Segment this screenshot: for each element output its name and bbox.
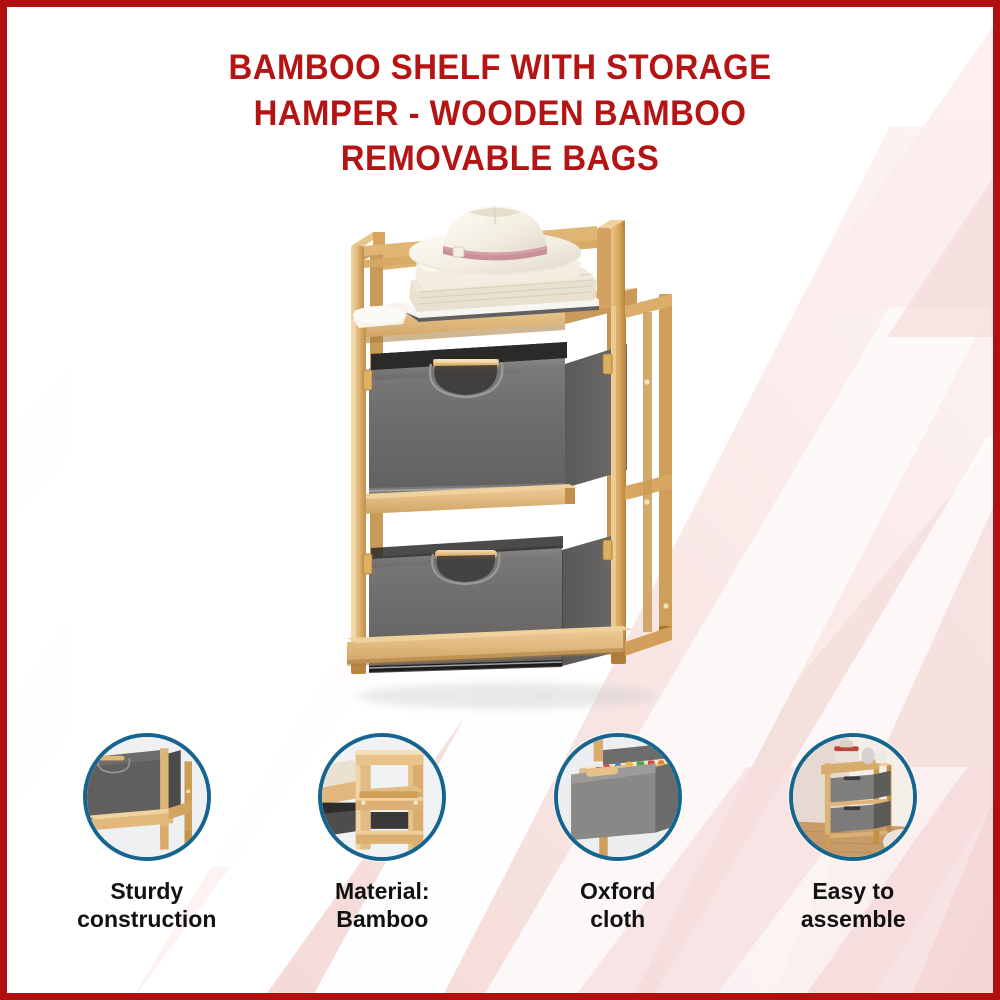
bamboo-shelf-illustration [307,202,707,722]
feature-thumb-material-bamboo [318,733,446,861]
feature-thumb-oxford-cloth [554,733,682,861]
feature-callouts: Sturdy construction [29,733,971,963]
feature-thumb-sturdy-construction [83,733,211,861]
title-line-3: REMOVABLE BAGS [37,136,964,182]
easy-to-assemble-thumb-svg [793,737,913,857]
feature-thumb-easy-to-assemble [789,733,917,861]
feature-label-oxford-cloth: Oxford cloth [580,877,655,933]
product-poster: BAMBOO SHELF WITH STORAGE HAMPER - WOODE… [0,0,1000,1000]
page-title: BAMBOO SHELF WITH STORAGE HAMPER - WOODE… [7,45,993,182]
feature-label-sturdy-construction: Sturdy construction [77,877,216,933]
feature-label-material-bamboo: Material: Bamboo [335,877,430,933]
hero-product-image [307,202,707,722]
feature-sturdy-construction[interactable]: Sturdy construction [44,733,249,933]
feature-oxford-cloth[interactable]: Oxford cloth [515,733,720,933]
feature-material-bamboo[interactable]: Material: Bamboo [280,733,485,933]
oxford-cloth-thumb-svg [558,737,678,857]
title-line-1: BAMBOO SHELF WITH STORAGE [37,45,964,91]
sturdy-construction-thumb-svg [87,737,207,857]
material-bamboo-thumb-svg [322,737,442,857]
feature-easy-to-assemble[interactable]: Easy to assemble [751,733,956,933]
feature-label-easy-to-assemble: Easy to assemble [801,877,906,933]
title-line-2: HAMPER - WOODEN BAMBOO [37,91,964,137]
